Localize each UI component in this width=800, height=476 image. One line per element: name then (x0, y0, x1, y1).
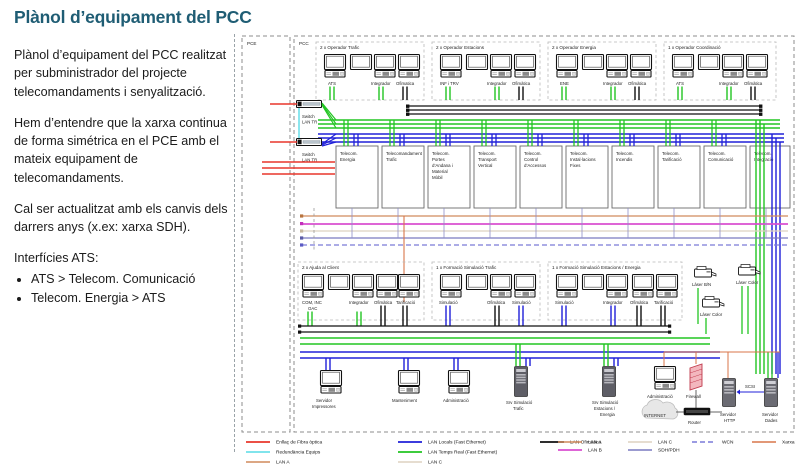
rack-label: Telecom. (478, 151, 496, 156)
device-label: Estacions / (594, 406, 616, 411)
operator-group: 1 x Formació Simulació Estacions / Energ… (548, 262, 682, 326)
rack-label: Vertical (478, 163, 492, 168)
rack-label: Instal·lacions (570, 157, 596, 162)
paragraph-1: Plànol d’equipament del PCC realitzat pe… (14, 46, 230, 101)
zone-label-pce: PCE (247, 41, 256, 46)
device-manteniment: Manteniment (392, 358, 420, 403)
station-label: Integrador (349, 300, 369, 305)
device-administracio: Administració (443, 358, 470, 403)
operator-group: 2 x Ajuda al Client COM, INC OAC Integra… (298, 262, 424, 326)
rack-label: Incendis (616, 157, 633, 162)
station-label: Ofimàtica (374, 300, 393, 305)
switch-lan-tr-2: Switch LAN TR (297, 139, 322, 163)
legend-label: LAN Temps Real (Fast Ethernet) (428, 450, 498, 456)
station-label: ATS (328, 81, 336, 86)
legend-label: Redundància Equips (276, 450, 321, 456)
device-label: Srv Simulació (506, 400, 533, 405)
switch-label: Switch (302, 114, 315, 119)
station-label: Integrador (371, 81, 391, 86)
station-label: Simulació (555, 300, 574, 305)
paragraph-3: Cal ser actualitzat amb els canvis dels … (14, 200, 230, 237)
telecom-rack: Telecom. Portes d’Andana i Material Mòbi… (428, 146, 470, 208)
station-label: OAC (308, 306, 317, 311)
legend-label: LAN C (428, 460, 443, 466)
operator-group: 2 x Operador Trafic ATS Integrador Ofima… (316, 42, 424, 100)
list-item: ATS > Telecom. Comunicació (31, 270, 230, 288)
station-label: Ofimàtica (628, 81, 647, 86)
rack-label: d’Andana i (432, 163, 453, 168)
telecom-rack: Telecom. Control d’Accessos (520, 146, 562, 208)
station-label: COM, INC (302, 300, 322, 305)
telecom-rack: Telecom. Instal·lacions Fixes (566, 146, 608, 208)
station-label: Ofimàtica (744, 81, 763, 86)
device-label: Administració (647, 394, 673, 399)
device-label: Dades (765, 418, 777, 423)
device-label: Energia (600, 412, 615, 417)
device-srv-simulacio-trafic: Srv Simulació Trafic (506, 344, 533, 411)
rack-label: Telecomandament (386, 151, 423, 156)
rack-label: d’Accessos (524, 163, 547, 168)
printer-laser-color-2: Làser Color (700, 297, 724, 318)
station-label: Integrador (719, 81, 739, 86)
rack-label: Telecom. (570, 151, 588, 156)
operator-group: 2 x Operador Energia ENE Integrador Ofim… (548, 42, 656, 100)
rack-label: Telecom. (708, 151, 726, 156)
device-label: Firewall (686, 394, 701, 399)
station-label: Simulació (512, 300, 531, 305)
switch-lan-tr-1: Switch LAN TR (297, 101, 322, 125)
station-label: INF i TRV (440, 81, 459, 86)
telecom-rack: Telecom. Comunicació (704, 146, 746, 208)
operator-group-title: 1 x Operador Coordinació (668, 45, 721, 50)
device-label: Servidor (316, 398, 333, 403)
column-divider (234, 34, 235, 452)
operator-group-title: 1 x Formació Simulació Trafic (436, 265, 497, 270)
device-label: Trafic (513, 406, 524, 411)
operator-group: 1 x Operador Coordinació ATS Integrador … (664, 42, 776, 100)
rack-label: Portes (432, 157, 445, 162)
legend-label: Enllaç de Fibra òptica (276, 440, 322, 446)
operator-group: 1 x Formació Simulació Trafic Simulació … (432, 262, 540, 326)
internet-label: INTERNET (644, 413, 666, 418)
printer-label: Làser Color (700, 312, 723, 317)
station-label: Ofimàtica (487, 300, 506, 305)
rack-label: Telecom. (340, 151, 358, 156)
station-label: ATS (676, 81, 684, 86)
station-label: Ofimàtica (512, 81, 531, 86)
operator-group-title: 2 x Operador Energia (552, 45, 596, 50)
legend-label: LAN A (276, 460, 290, 466)
interfaces-list: ATS > Telecom. Comunicació Telecom. Ener… (14, 270, 230, 308)
switch-label: LAN TR (302, 120, 317, 125)
operator-group-title: 1 x Formació Simulació Estacions / Energ… (552, 265, 641, 270)
rack-label: Control (524, 157, 538, 162)
telecom-rack: Telecom. Tarificació (658, 146, 700, 208)
telecom-rack: Telecom. Transport Vertical (474, 146, 516, 208)
device-label: Srv Simulació (592, 400, 619, 405)
zone-label-pcc: PCC (299, 41, 309, 46)
list-heading: Interfícies ATS: (14, 249, 230, 267)
rack-label: Comunicació (708, 157, 734, 162)
station-label: Integrador (603, 300, 623, 305)
device-label: Administració (443, 398, 469, 403)
telecom-rack: Telecom. Incendis (612, 146, 654, 208)
station-label: Ofimàtica (630, 300, 649, 305)
rack-label: Telecom. (662, 151, 680, 156)
telecom-rack: Telecomandament Trafic (382, 146, 424, 208)
device-label: Impressores (312, 404, 336, 409)
rack-label: Material (432, 169, 448, 174)
printer-label: Làser B/N (692, 282, 711, 287)
device-label: Router (688, 420, 701, 425)
station-label: Integrador (603, 81, 623, 86)
station-label: ENE (560, 81, 569, 86)
rack-label: Tarificació (662, 157, 682, 162)
rack-label: Mòbil (432, 175, 443, 180)
station-label: Ofimatica (396, 81, 415, 86)
slide-description: Plànol d’equipament del PCC realitzat pe… (14, 46, 230, 308)
telecom-rack: Telecom. Energia (336, 146, 378, 208)
station-label: Tarificació (396, 300, 416, 305)
internet-block: Administració Firewall INTERNET Router (642, 352, 779, 425)
device-label: Servidor (762, 412, 779, 417)
scsi-label: SCSI (745, 384, 755, 389)
legend-label: LAN Locals (Fast Ethernet) (428, 440, 486, 446)
device-label: HTTP (724, 418, 735, 423)
device-label: Servidor (720, 412, 737, 417)
station-label: Simulació (439, 300, 458, 305)
device-srv-simulacio-estacions-energia: Srv Simulació Estacions / Energia (592, 344, 619, 417)
operator-group-title: 2 x Operador Trafic (320, 45, 360, 50)
printer-laser-bn: Làser B/N (692, 267, 716, 288)
rack-label: Telecom. (616, 151, 634, 156)
list-item: Telecom. Energia > ATS (31, 289, 230, 307)
legend-label: LAN Ofimàtica (570, 440, 601, 446)
rack-label: Telecom. (432, 151, 450, 156)
page-title: Plànol d’equipament del PCC (14, 7, 252, 28)
station-label: Tarificació (654, 300, 674, 305)
paragraph-2: Hem d’entendre que la xarxa continua de … (14, 114, 230, 187)
rack-label: Trafic (386, 157, 398, 162)
rack-label: Fixes (570, 163, 581, 168)
rack-label: Energia (340, 157, 356, 162)
network-diagram: PCE PCC 2 x Operador Trafic ATS Integrad… (240, 34, 796, 438)
operator-group-title: 2 x Ajuda al Client (302, 265, 339, 270)
printer-label: Làser Color (736, 280, 759, 285)
device-servidor-impressores: Servidor Impressores (312, 358, 342, 409)
diagram-legend: Enllaç de Fibra òptica Redundància Equip… (240, 436, 796, 470)
device-label: Manteniment (392, 398, 418, 403)
rack-label: Transport (478, 157, 497, 162)
operator-group: 2 x Operador Estacions INF i TRV Integra… (432, 42, 540, 100)
rack-label: Telecom. (524, 151, 542, 156)
switch-label: Switch (302, 152, 315, 157)
operator-group-title: 2 x Operador Estacions (436, 45, 485, 50)
station-label: Integrador (487, 81, 507, 86)
